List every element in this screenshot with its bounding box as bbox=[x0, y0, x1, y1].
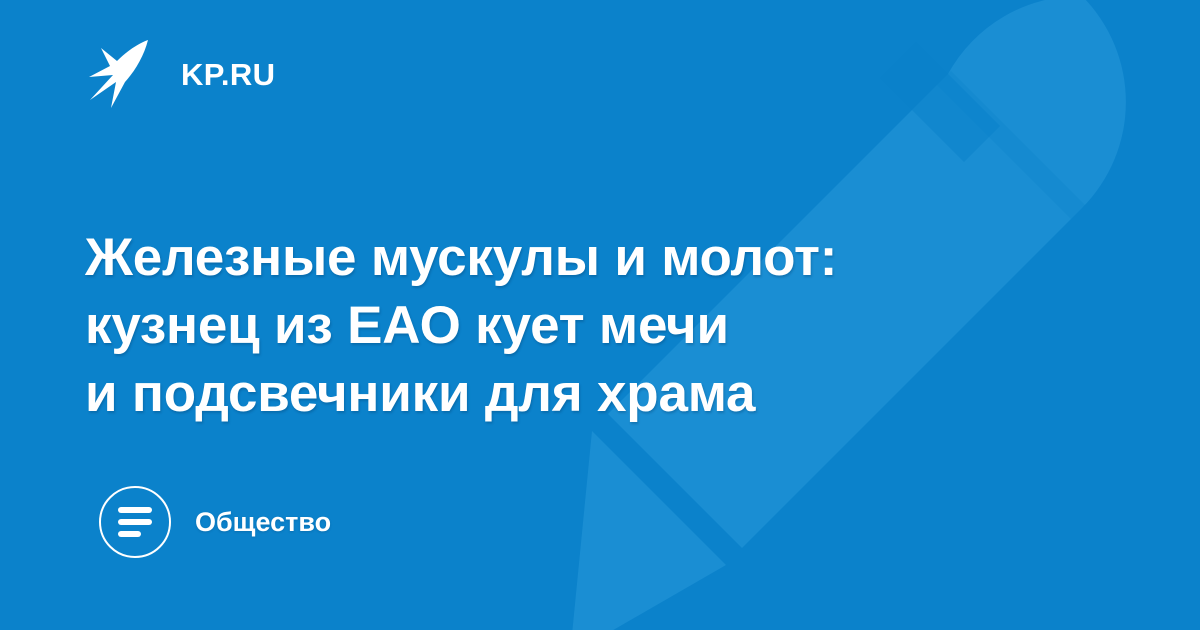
swallow-bird-icon[interactable] bbox=[85, 38, 159, 110]
category-badge[interactable]: Общество bbox=[99, 486, 331, 558]
menu-bar-bottom bbox=[118, 531, 141, 537]
hamburger-menu-icon[interactable] bbox=[99, 486, 171, 558]
page-title: Железные мускулы и молот: кузнец из ЕАО … bbox=[85, 224, 985, 428]
menu-bar-middle bbox=[118, 519, 152, 525]
site-header: KP.RU bbox=[85, 34, 275, 114]
kp-ru-wordmark[interactable]: KP.RU bbox=[181, 59, 275, 90]
share-card: KP.RU Железные мускулы и молот: кузнец и… bbox=[0, 0, 1200, 630]
menu-bar-top bbox=[118, 507, 152, 513]
category-label[interactable]: Общество bbox=[195, 509, 331, 536]
